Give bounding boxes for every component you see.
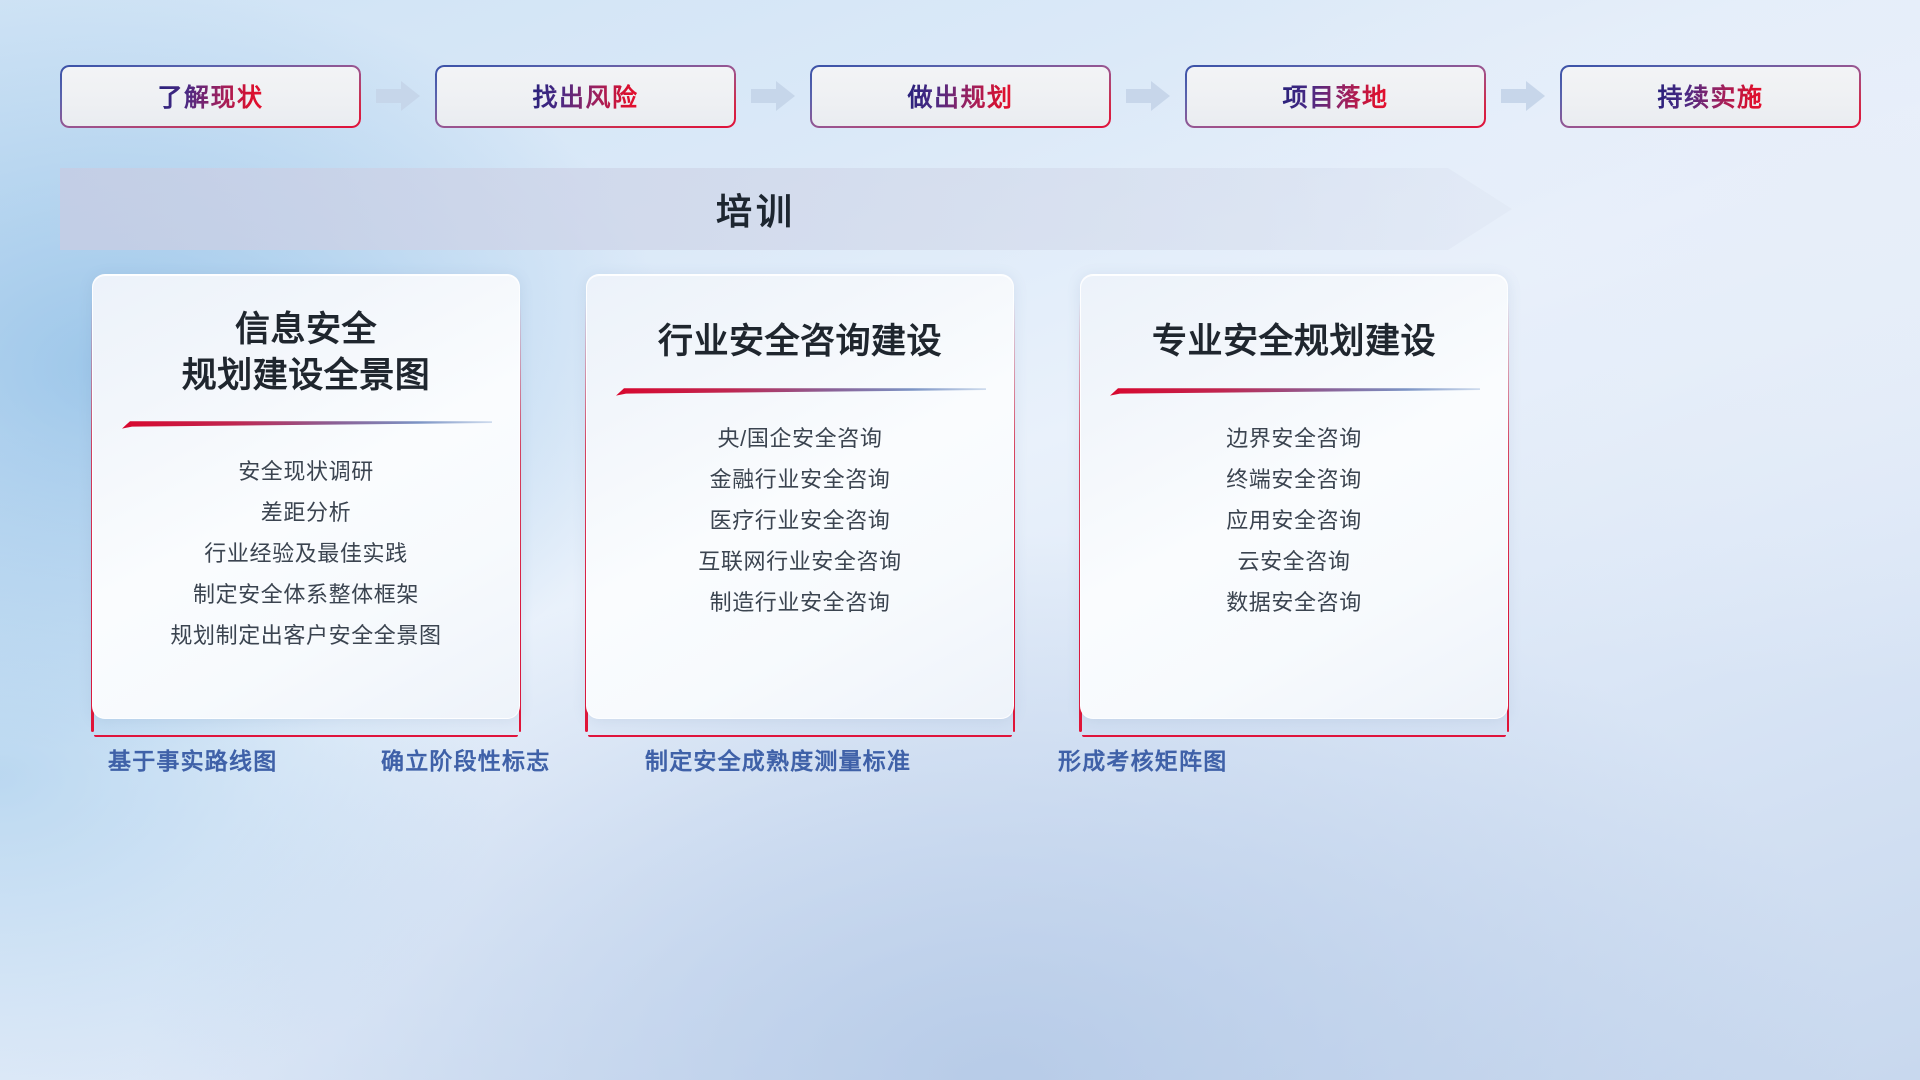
step-label: 了解现状 xyxy=(157,78,263,114)
card-item-list: 央/国企安全咨询 金融行业安全咨询 医疗行业安全咨询 互联网行业安全咨询 制造行… xyxy=(587,418,1013,623)
caption-row: 基于事实路线图 确立阶段性标志 制定安全成熟度测量标准 形成考核矩阵图 xyxy=(0,742,1920,790)
list-item: 央/国企安全咨询 xyxy=(587,418,1013,459)
card-title-line: 信息安全 xyxy=(111,307,501,353)
list-item: 边界安全咨询 xyxy=(1081,418,1507,459)
step-box-4[interactable]: 项目落地 xyxy=(1185,65,1486,128)
card-title-line: 规划建设全景图 xyxy=(111,353,501,399)
list-item: 制定安全体系整体框架 xyxy=(93,574,519,615)
card-divider xyxy=(120,420,492,429)
step-box-3[interactable]: 做出规划 xyxy=(810,65,1111,128)
step-box-5[interactable]: 持续实施 xyxy=(1560,65,1861,128)
list-item: 规划制定出客户安全全景图 xyxy=(93,615,519,656)
process-step-row: 了解现状 找出风险 做出规划 项目落地 xyxy=(60,62,1860,130)
step-label: 做出规划 xyxy=(907,78,1013,114)
list-item: 行业经验及最佳实践 xyxy=(93,533,519,574)
card-title: 专业安全规划建设 xyxy=(1081,319,1507,365)
card-accent-bottom xyxy=(94,735,518,738)
card-title-line: 行业安全咨询建设 xyxy=(605,319,995,365)
card-divider xyxy=(1108,387,1480,396)
arrow-right-icon xyxy=(1111,65,1185,128)
card-row: 信息安全 规划建设全景图 xyxy=(92,274,1836,719)
list-item: 互联网行业安全咨询 xyxy=(587,541,1013,582)
card-item-list: 边界安全咨询 终端安全咨询 应用安全咨询 云安全咨询 数据安全咨询 xyxy=(1081,418,1507,623)
card-title: 信息安全 规划建设全景图 xyxy=(93,307,519,398)
list-item: 安全现状调研 xyxy=(93,451,519,492)
list-item: 数据安全咨询 xyxy=(1081,582,1507,623)
list-item: 应用安全咨询 xyxy=(1081,500,1507,541)
caption-2: 确立阶段性标志 xyxy=(381,742,550,776)
card-item-list: 安全现状调研 差距分析 行业经验及最佳实践 制定安全体系整体框架 规划制定出客户… xyxy=(93,451,519,656)
list-item: 医疗行业安全咨询 xyxy=(587,500,1013,541)
infographic-page: 了解现状 找出风险 做出规划 项目落地 xyxy=(0,0,1920,1080)
card-divider xyxy=(614,387,986,396)
card-title: 行业安全咨询建设 xyxy=(587,319,1013,365)
caption-1: 基于事实路线图 xyxy=(108,742,277,776)
card-wrapper-3: 专业安全规划建设 xyxy=(1080,274,1508,719)
card-title-line: 专业安全规划建设 xyxy=(1099,319,1489,365)
card-wrapper-2: 行业安全咨询建设 xyxy=(586,274,1014,719)
card-panel-3[interactable]: 专业安全规划建设 xyxy=(1080,274,1508,719)
list-item: 差距分析 xyxy=(93,492,519,533)
caption-3: 制定安全成熟度测量标准 xyxy=(645,742,911,776)
list-item: 金融行业安全咨询 xyxy=(587,459,1013,500)
step-box-1[interactable]: 了解现状 xyxy=(60,65,361,128)
list-item: 云安全咨询 xyxy=(1081,541,1507,582)
training-banner: 培训 xyxy=(60,168,1512,250)
list-item: 制造行业安全咨询 xyxy=(587,582,1013,623)
caption-4: 形成考核矩阵图 xyxy=(1058,742,1227,776)
list-item: 终端安全咨询 xyxy=(1081,459,1507,500)
banner-title: 培训 xyxy=(60,168,1512,250)
step-box-2[interactable]: 找出风险 xyxy=(435,65,736,128)
card-panel-1[interactable]: 信息安全 规划建设全景图 xyxy=(92,274,520,719)
card-wrapper-1: 信息安全 规划建设全景图 xyxy=(92,274,520,719)
step-label: 项目落地 xyxy=(1282,78,1388,114)
arrow-right-icon xyxy=(736,65,810,128)
step-label: 找出风险 xyxy=(532,78,638,114)
arrow-right-icon xyxy=(361,65,435,128)
card-accent-bottom xyxy=(1082,735,1506,738)
arrow-right-icon xyxy=(1486,65,1560,128)
card-panel-2[interactable]: 行业安全咨询建设 xyxy=(586,274,1014,719)
card-accent-bottom xyxy=(588,735,1012,738)
step-label: 持续实施 xyxy=(1657,78,1763,114)
